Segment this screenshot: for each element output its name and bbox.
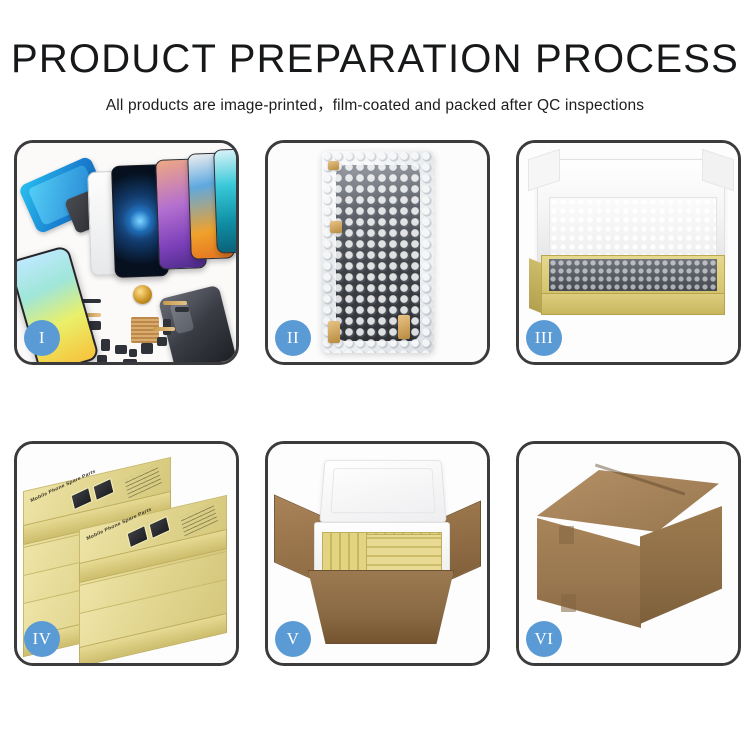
page-subtitle: All products are image-printed，film-coat… [0,93,750,115]
step-badge-1: I [24,320,60,356]
speaker-module-icon [133,285,152,304]
process-step-grid: I II [14,140,736,690]
gold-tape-strip-icon [328,321,340,343]
seam-tape-icon [559,526,574,544]
step-badge-4: IV [24,621,60,657]
open-brown-carton-icon [308,570,454,644]
process-step-1: I [14,140,239,365]
product-window-icon [92,478,114,501]
yellow-boxes-inside-icon [366,534,442,574]
sealed-carton-left-icon [537,518,641,628]
small-components-group [79,293,209,365]
component-icon [115,345,127,354]
process-step-2: II [265,140,490,365]
component-icon [175,307,189,312]
product-window-icon [126,525,148,548]
process-step-5: V [265,441,490,666]
component-icon [97,355,107,363]
component-icon [129,349,137,357]
gold-tape-strip-icon [328,161,339,170]
teal-gradient-phone-icon [213,148,239,253]
component-icon [157,337,167,346]
flex-cable-icon [163,301,187,305]
component-icon [101,339,110,351]
product-window-icon [70,487,92,510]
step-badge-5: V [275,621,311,657]
step-badge-6: VI [526,621,562,657]
step-badge-2: II [275,320,311,356]
process-step-3: III [516,140,741,365]
component-icon [123,359,137,365]
process-step-6: VI [516,441,741,666]
foam-lid-icon [319,460,446,523]
component-icon [141,343,153,354]
dark-bubble-wrapped-units-icon [549,259,717,291]
seam-tape-icon [561,594,576,612]
kraft-tray-front-icon [541,293,725,315]
product-preparation-infographic: PRODUCT PREPARATION PROCESS All products… [0,0,750,750]
page-title: PRODUCT PREPARATION PROCESS [0,38,750,80]
flex-cable-icon [153,327,175,331]
product-window-icon [148,516,170,539]
gold-tape-strip-icon [330,221,342,233]
gold-tape-strip-icon [398,315,410,339]
foam-sheet-icon [549,197,717,259]
step-badge-3: III [526,320,562,356]
header: PRODUCT PREPARATION PROCESS All products… [0,0,750,115]
process-step-4: Mobile Phone Spare Parts Mobile Phone Sp… [14,441,239,666]
